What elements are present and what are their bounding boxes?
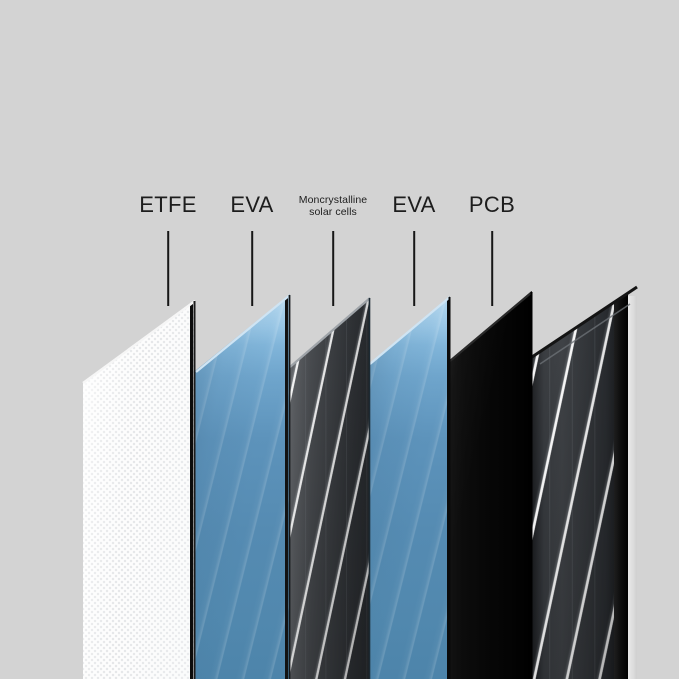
wedge-above-eva-front bbox=[195, 0, 290, 371]
callout-eva-back-label: EVA bbox=[392, 193, 435, 217]
callout-solar-cells-label-line2: solar cells bbox=[299, 206, 368, 218]
layer-top-bevels bbox=[0, 0, 679, 679]
callout-solar-cells[interactable]: Moncrystalline solar cells bbox=[299, 194, 368, 218]
solar-panel-layer-infographic: 24% HIGH CONVERSION RATE Made of A+ mono… bbox=[0, 0, 679, 679]
wedge-above-eva-back bbox=[370, 0, 450, 363]
right-margin bbox=[637, 286, 679, 679]
wedge-above-cells bbox=[290, 0, 370, 366]
wedge-above-etfe bbox=[0, 0, 195, 382]
callout-etfe[interactable]: ETFE bbox=[139, 193, 196, 217]
callout-pcb[interactable]: PCB bbox=[469, 193, 515, 217]
wedge-above-pcb bbox=[450, 0, 532, 360]
callout-eva-front-label: EVA bbox=[230, 193, 273, 217]
callout-eva-back[interactable]: EVA bbox=[392, 193, 435, 217]
callout-solar-cells-label-line1: Moncrystalline bbox=[299, 194, 368, 206]
callout-pcb-label: PCB bbox=[469, 193, 515, 217]
callout-eva-front[interactable]: EVA bbox=[230, 193, 273, 217]
exploded-layer-stack bbox=[0, 0, 679, 679]
callout-etfe-label: ETFE bbox=[139, 193, 196, 217]
